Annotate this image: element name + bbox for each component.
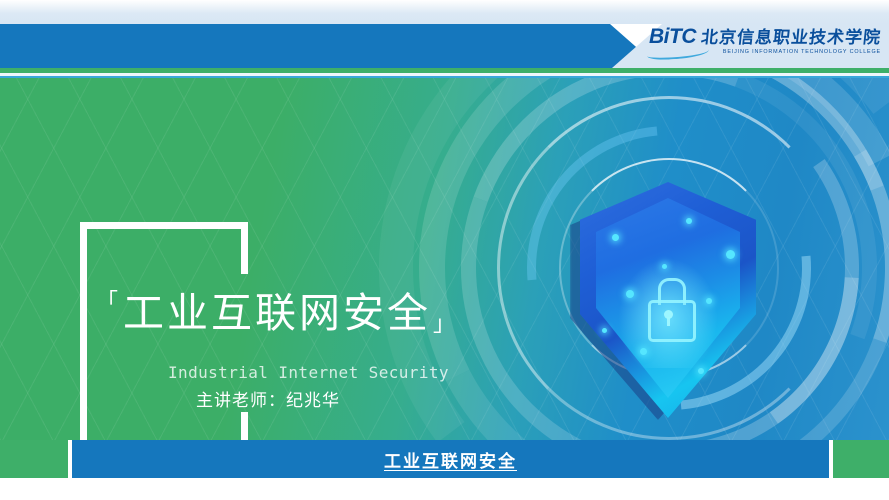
padlock-icon [648,300,696,342]
shield-graphic [566,178,766,440]
presentation-title-slide: BiTC 北京信息职业技术学院 BEIJING INFORMATION TECH… [0,0,889,500]
logo-name-cn: 北京信息职业技术学院 [700,30,882,47]
slide-subtitle-en: Industrial Internet Security [168,362,468,384]
logo-row: BiTC 北京信息职业技术学院 [649,26,881,47]
network-node [612,234,619,241]
institution-logo: BiTC 北京信息职业技术学院 BEIJING INFORMATION TECH… [649,26,881,55]
frame-edge-top [80,222,248,229]
footer-bar: 工业互联网安全 [72,440,829,478]
logo-mark: BiTC [649,26,696,47]
network-node [662,264,667,269]
network-node [602,328,607,333]
footer-accent-right [833,440,889,478]
network-node [686,218,692,224]
page-title: 工业互联网安全 [123,289,431,337]
network-node [626,290,634,298]
padlock-keyhole-slot-icon [667,317,670,326]
bracket-open: 「 [96,290,121,315]
footer-accent-left [0,440,68,478]
title-block: 「工业互联网安全」 Industrial Internet Security 主… [96,290,516,337]
top-blue-bar-fill [0,24,700,68]
network-node [698,368,704,374]
frame-edge-left [80,222,87,440]
footer-title: 工业互联网安全 [72,440,829,478]
slide-body: 「工业互联网安全」 Industrial Internet Security 主… [0,78,889,440]
frame-edge-right-upper [241,222,248,274]
network-node [726,250,735,259]
network-node [706,298,712,304]
slide-title-line: 「工业互联网安全」 [96,290,516,337]
top-light-band [0,0,889,24]
slide-footer: 工业互联网安全 [0,440,889,500]
bracket-close: 」 [433,312,458,337]
frame-edge-right-lower [241,412,248,440]
network-node [640,348,647,355]
presenter-label: 主讲老师：纪兆华 [196,386,340,411]
